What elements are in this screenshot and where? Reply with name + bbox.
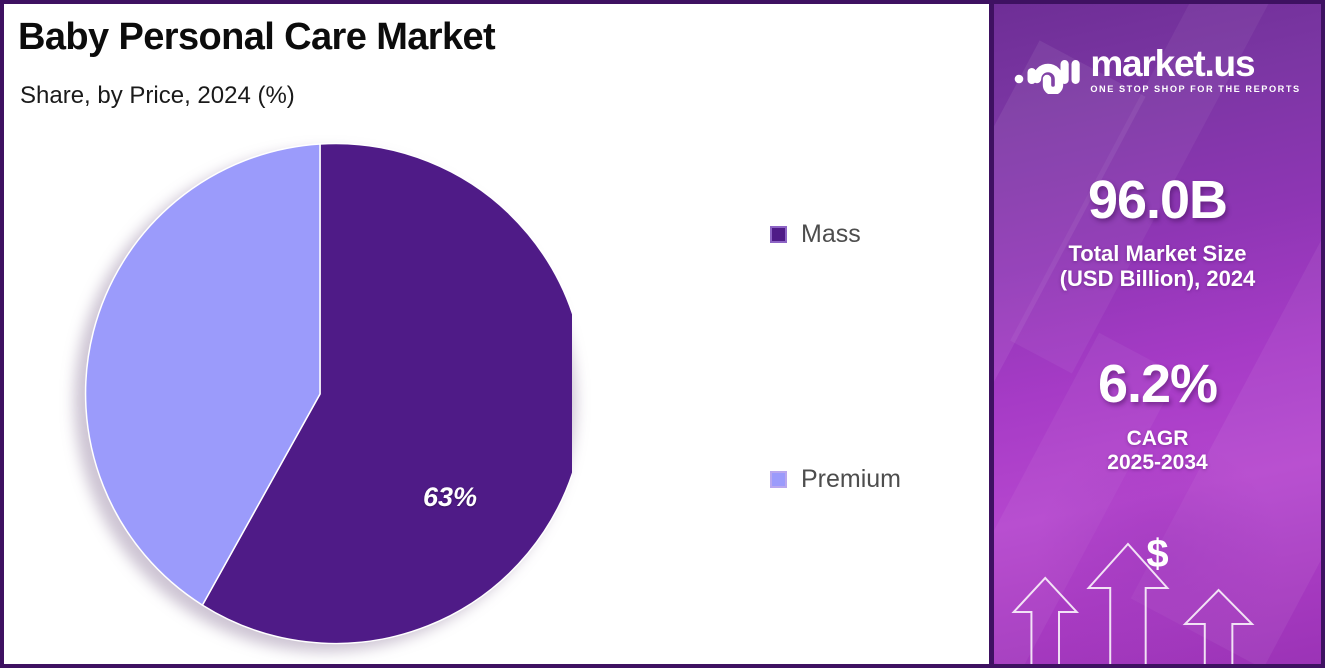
stat-market-size-caption: Total Market Size (USD Billion), 2024 <box>994 241 1321 292</box>
brand-logo[interactable]: market.us ONE STOP SHOP FOR THE REPORTS <box>994 46 1321 94</box>
stat-cagr-value: 6.2% <box>994 356 1321 413</box>
legend-swatch-mass-icon <box>770 226 787 243</box>
legend-item-mass[interactable]: Mass <box>770 220 861 249</box>
stat-market-size-caption-line1: Total Market Size <box>994 241 1321 267</box>
pie-chart-container: 63% <box>68 142 580 654</box>
logo-tagline: ONE STOP SHOP FOR THE REPORTS <box>1090 84 1300 94</box>
stat-cagr-caption-line2: 2025-2034 <box>994 451 1321 475</box>
stat-cagr-caption: CAGR 2025-2034 <box>994 427 1321 476</box>
growth-arrows-graphic: $ <box>994 516 1321 664</box>
market-us-bars-logo-icon <box>1014 46 1080 94</box>
stat-market-size-caption-line2: (USD Billion), 2024 <box>994 266 1321 292</box>
page-title: Baby Personal Care Market <box>18 16 495 59</box>
pie-chart <box>68 142 572 646</box>
pie-chart-svg <box>68 142 572 646</box>
legend-label-mass: Mass <box>801 220 861 249</box>
brand-stats-panel: market.us ONE STOP SHOP FOR THE REPORTS … <box>989 4 1321 664</box>
stat-cagr: 6.2% CAGR 2025-2034 <box>994 356 1321 475</box>
pie-slice-label-mass: 63% <box>423 482 477 513</box>
legend-label-premium: Premium <box>801 465 901 494</box>
stat-market-size: 96.0B Total Market Size (USD Billion), 2… <box>994 172 1321 292</box>
stat-cagr-caption-line1: CAGR <box>994 427 1321 451</box>
chart-panel: Baby Personal Care Market Share, by Pric… <box>4 4 989 664</box>
infographic-root: Baby Personal Care Market Share, by Pric… <box>0 0 1325 668</box>
legend-item-premium[interactable]: Premium <box>770 465 901 494</box>
logo-wordmark: market.us <box>1090 46 1300 81</box>
legend-swatch-premium-icon <box>770 471 787 488</box>
chart-subtitle: Share, by Price, 2024 (%) <box>20 82 295 110</box>
logo-text-block: market.us ONE STOP SHOP FOR THE REPORTS <box>1090 46 1300 94</box>
stat-market-size-value: 96.0B <box>994 172 1321 229</box>
dollar-sign-icon: $ <box>994 534 1321 574</box>
